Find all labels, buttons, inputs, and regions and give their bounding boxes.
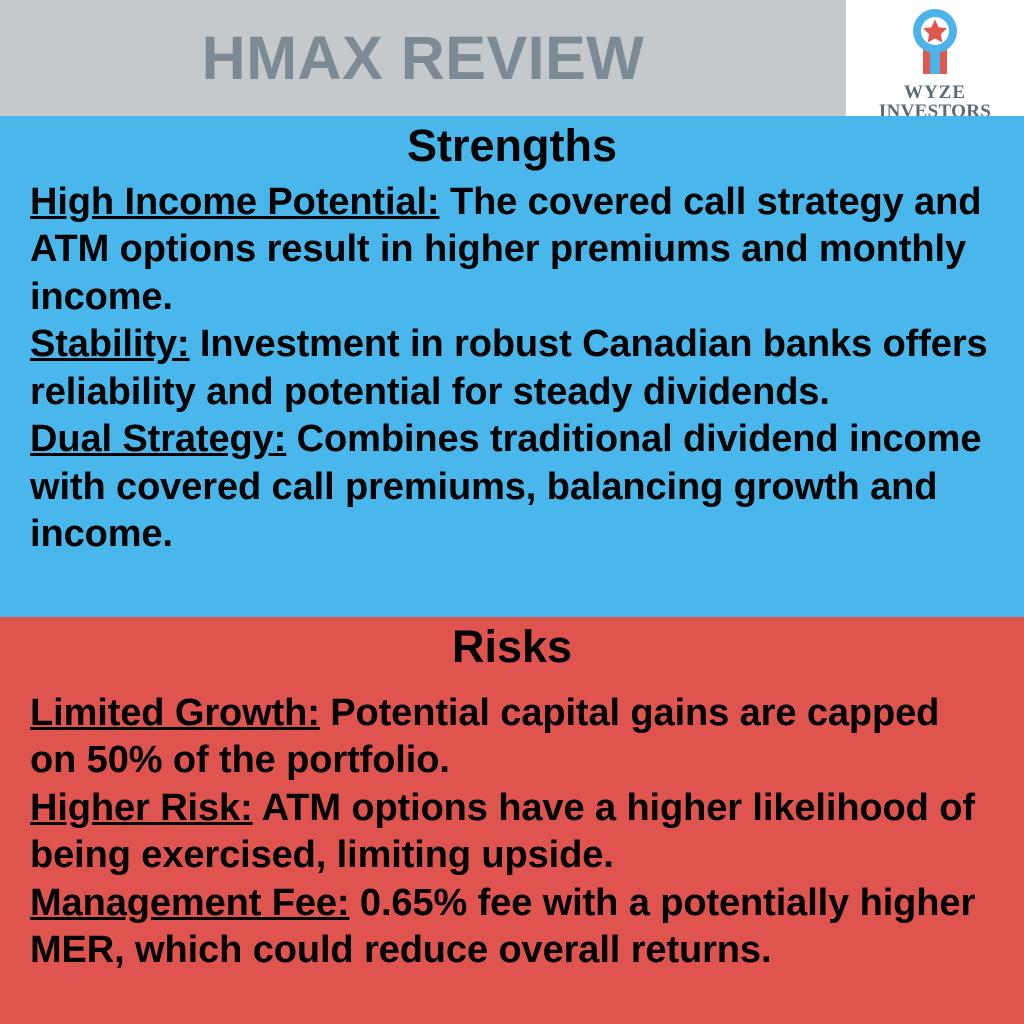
page-title: HMAX REVIEW	[0, 0, 846, 116]
risks-item: Limited Growth: Potential capital gains …	[30, 690, 994, 785]
risks-item-label: Higher Risk:	[30, 787, 253, 829]
strengths-item-label: Dual Strategy:	[30, 418, 286, 460]
strengths-item-label: High Income Potential:	[30, 181, 440, 223]
strengths-panel: Strengths High Income Potential: The cov…	[0, 116, 1024, 617]
strengths-item: High Income Potential: The covered call …	[30, 179, 994, 322]
strengths-item-label: Stability:	[30, 323, 189, 365]
strengths-item: Dual Strategy: Combines traditional divi…	[30, 416, 994, 559]
infographic-page: HMAX REVIEW WYZE INVESTORS Strengths	[0, 0, 1024, 1024]
risks-item: Higher Risk: ATM options have a higher l…	[30, 785, 994, 880]
strengths-list: High Income Potential: The covered call …	[30, 179, 994, 559]
brand-wordmark-line1: WYZE	[879, 83, 991, 102]
risks-list: Limited Growth: Potential capital gains …	[30, 690, 994, 975]
risks-item: Management Fee: 0.65% fee with a potenti…	[30, 880, 994, 975]
risks-heading: Risks	[30, 617, 994, 672]
strengths-heading: Strengths	[30, 116, 994, 171]
strengths-item: Stability: Investment in robust Canadian…	[30, 321, 994, 416]
risks-panel: Risks Limited Growth: Potential capital …	[0, 617, 1024, 1024]
award-medal-icon	[896, 6, 974, 82]
risks-item-label: Management Fee:	[30, 882, 349, 924]
risks-item-label: Limited Growth:	[30, 692, 320, 734]
